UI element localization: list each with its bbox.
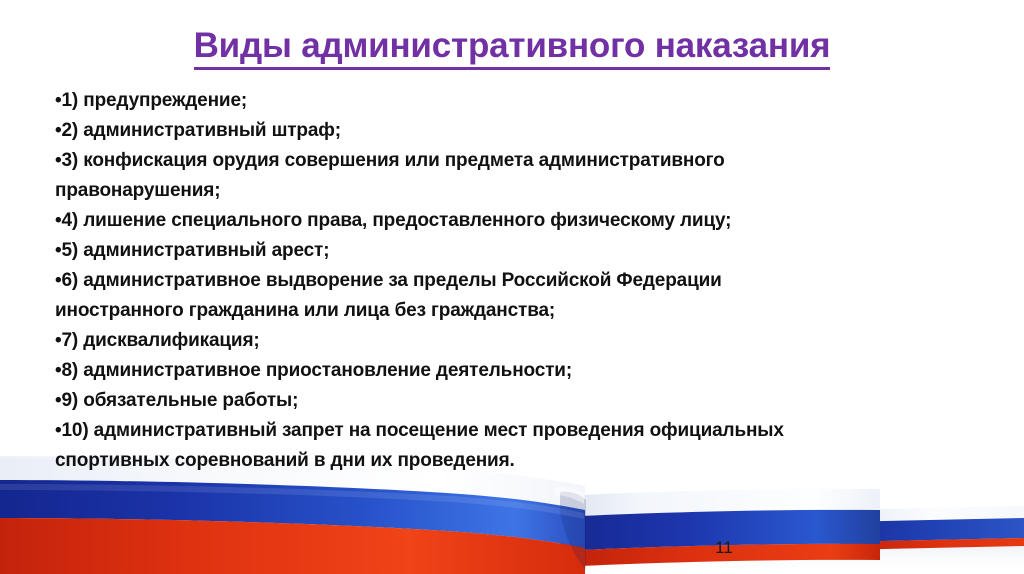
list-item-text: 5) административный арест;	[62, 240, 330, 261]
list-item-text: 8) административное приостановление деят…	[62, 360, 572, 381]
list-item: •8) административное приостановление дея…	[55, 356, 980, 386]
list-item: •2) административный штраф;	[55, 116, 980, 146]
list-item-text: 4) лишение специального права, предостав…	[62, 210, 732, 231]
list-item-text: 1) предупреждение;	[62, 90, 248, 111]
list-item: •10) административный запрет на посещени…	[55, 416, 980, 446]
list-item: •7) дисквалификация;	[55, 326, 980, 356]
list-item-continuation: иностранного гражданина или лица без гра…	[55, 296, 980, 326]
page-number: 11	[700, 538, 748, 558]
list-item-continuation: правонарушения;	[55, 176, 980, 206]
list-item: •4) лишение специального права, предоста…	[55, 206, 980, 236]
list-item-continuation: спортивных соревнований в дни их проведе…	[55, 446, 980, 476]
list-item-text: 6) административное выдворение за предел…	[62, 270, 722, 291]
list-item: •1) предупреждение;	[55, 86, 980, 116]
presentation-slide: Виды административного наказания	[0, 0, 1024, 574]
slide-title: Виды административного наказания	[60, 24, 964, 68]
list-item: •5) административный арест;	[55, 236, 980, 266]
list-item-text: 3) конфискация орудия совершения или пре…	[62, 150, 725, 171]
list-item-text: 7) дисквалификация;	[62, 330, 260, 351]
slide-title-text: Виды административного наказания	[194, 26, 831, 70]
list-item-text: 9) обязательные работы;	[62, 390, 299, 411]
list-item: •3) конфискация орудия совершения или пр…	[55, 146, 980, 176]
list-item-text: 2) административный штраф;	[62, 120, 341, 141]
bullet-list: •1) предупреждение; •2) административный…	[55, 86, 980, 476]
list-item: •6) административное выдворение за преде…	[55, 266, 980, 296]
list-item-text: 10) административный запрет на посещение…	[62, 420, 784, 441]
list-item: •9) обязательные работы;	[55, 386, 980, 416]
